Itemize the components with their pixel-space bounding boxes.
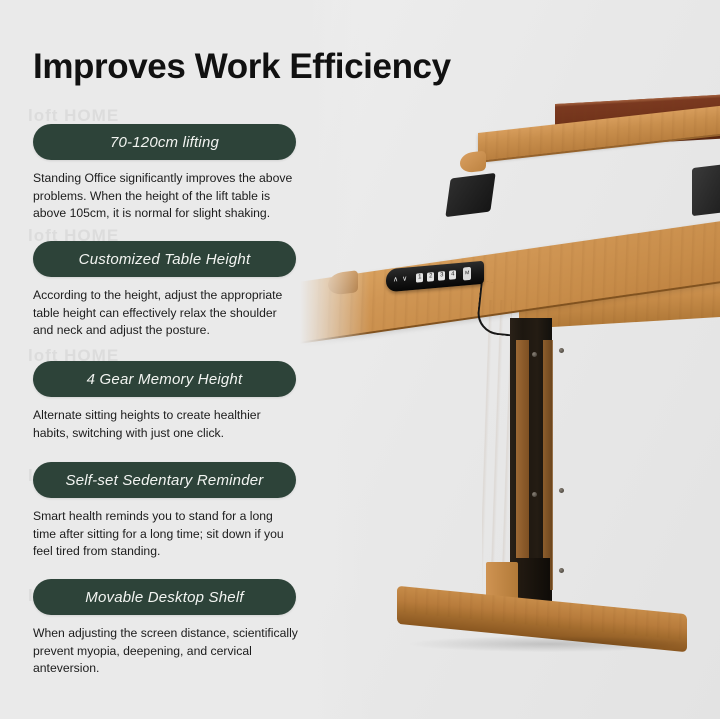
feature-pill-1[interactable]: 70-120cm lifting: [33, 124, 296, 160]
feature-label-3: 4 Gear Memory Height: [87, 371, 243, 388]
feature-pill-3[interactable]: 4 Gear Memory Height: [33, 361, 296, 397]
feature-label-2: Customized Table Height: [79, 251, 251, 268]
feature-description-4: Smart health reminds you to stand for a …: [33, 508, 298, 561]
feature-pill-2[interactable]: Customized Table Height: [33, 241, 296, 277]
feature-pill-4[interactable]: Self-set Sedentary Reminder: [33, 462, 296, 498]
content-column: Improves Work Efficiency 70-120cm liftin…: [0, 0, 720, 719]
feature-description-1: Standing Office significantly improves t…: [33, 170, 298, 223]
feature-description-5: When adjusting the screen distance, scie…: [33, 625, 298, 678]
feature-block-4: Self-set Sedentary Reminder Smart health…: [33, 462, 298, 561]
feature-label-4: Self-set Sedentary Reminder: [66, 472, 264, 489]
feature-block-1: 70-120cm lifting Standing Office signifi…: [33, 124, 298, 223]
feature-pill-5[interactable]: Movable Desktop Shelf: [33, 579, 296, 615]
infographic-page: loft HOME loft HOME loft HOME loft HOME …: [0, 0, 720, 719]
feature-block-5: Movable Desktop Shelf When adjusting the…: [33, 579, 298, 678]
feature-label-1: 70-120cm lifting: [110, 134, 219, 151]
page-title: Improves Work Efficiency: [33, 47, 451, 87]
feature-description-3: Alternate sitting heights to create heal…: [33, 407, 298, 442]
feature-block-2: Customized Table Height According to the…: [33, 241, 298, 340]
feature-block-3: 4 Gear Memory Height Alternate sitting h…: [33, 361, 298, 442]
feature-description-2: According to the height, adjust the appr…: [33, 287, 298, 340]
feature-label-5: Movable Desktop Shelf: [85, 589, 243, 606]
